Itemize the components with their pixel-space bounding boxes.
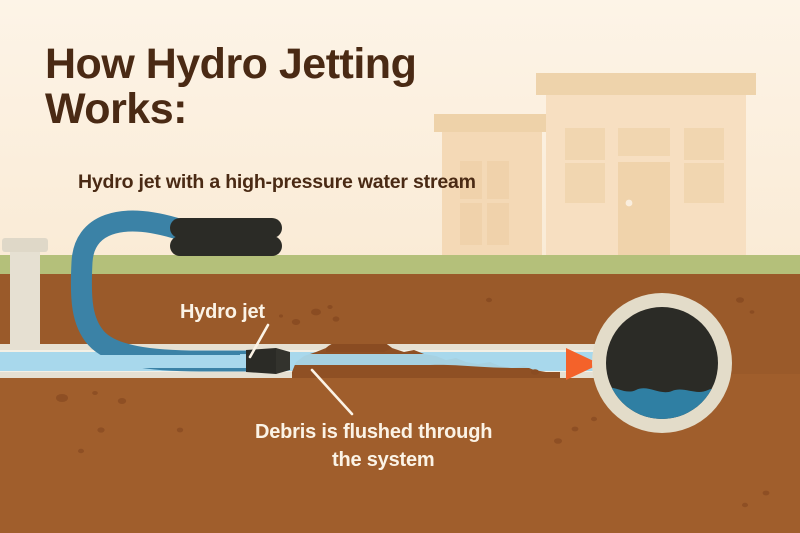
page-title-line1: How Hydro Jetting — [45, 40, 416, 88]
callout-hydro-jet: Hydro jet — [180, 301, 265, 323]
infographic-canvas: How Hydro Jetting Works: Hydro jet with … — [0, 0, 800, 533]
subtitle: Hydro jet with a high-pressure water str… — [78, 171, 476, 193]
sewer-manhole — [592, 293, 732, 433]
pipe-pebble — [531, 369, 539, 375]
grass-layer — [0, 255, 800, 274]
coiled-hose-reel — [170, 218, 282, 256]
page-title-line2: Works: — [45, 85, 187, 133]
callout-debris-line1: Debris is flushed through — [255, 421, 492, 443]
callout-debris-line2: the system — [332, 449, 435, 471]
building-main — [536, 73, 756, 259]
